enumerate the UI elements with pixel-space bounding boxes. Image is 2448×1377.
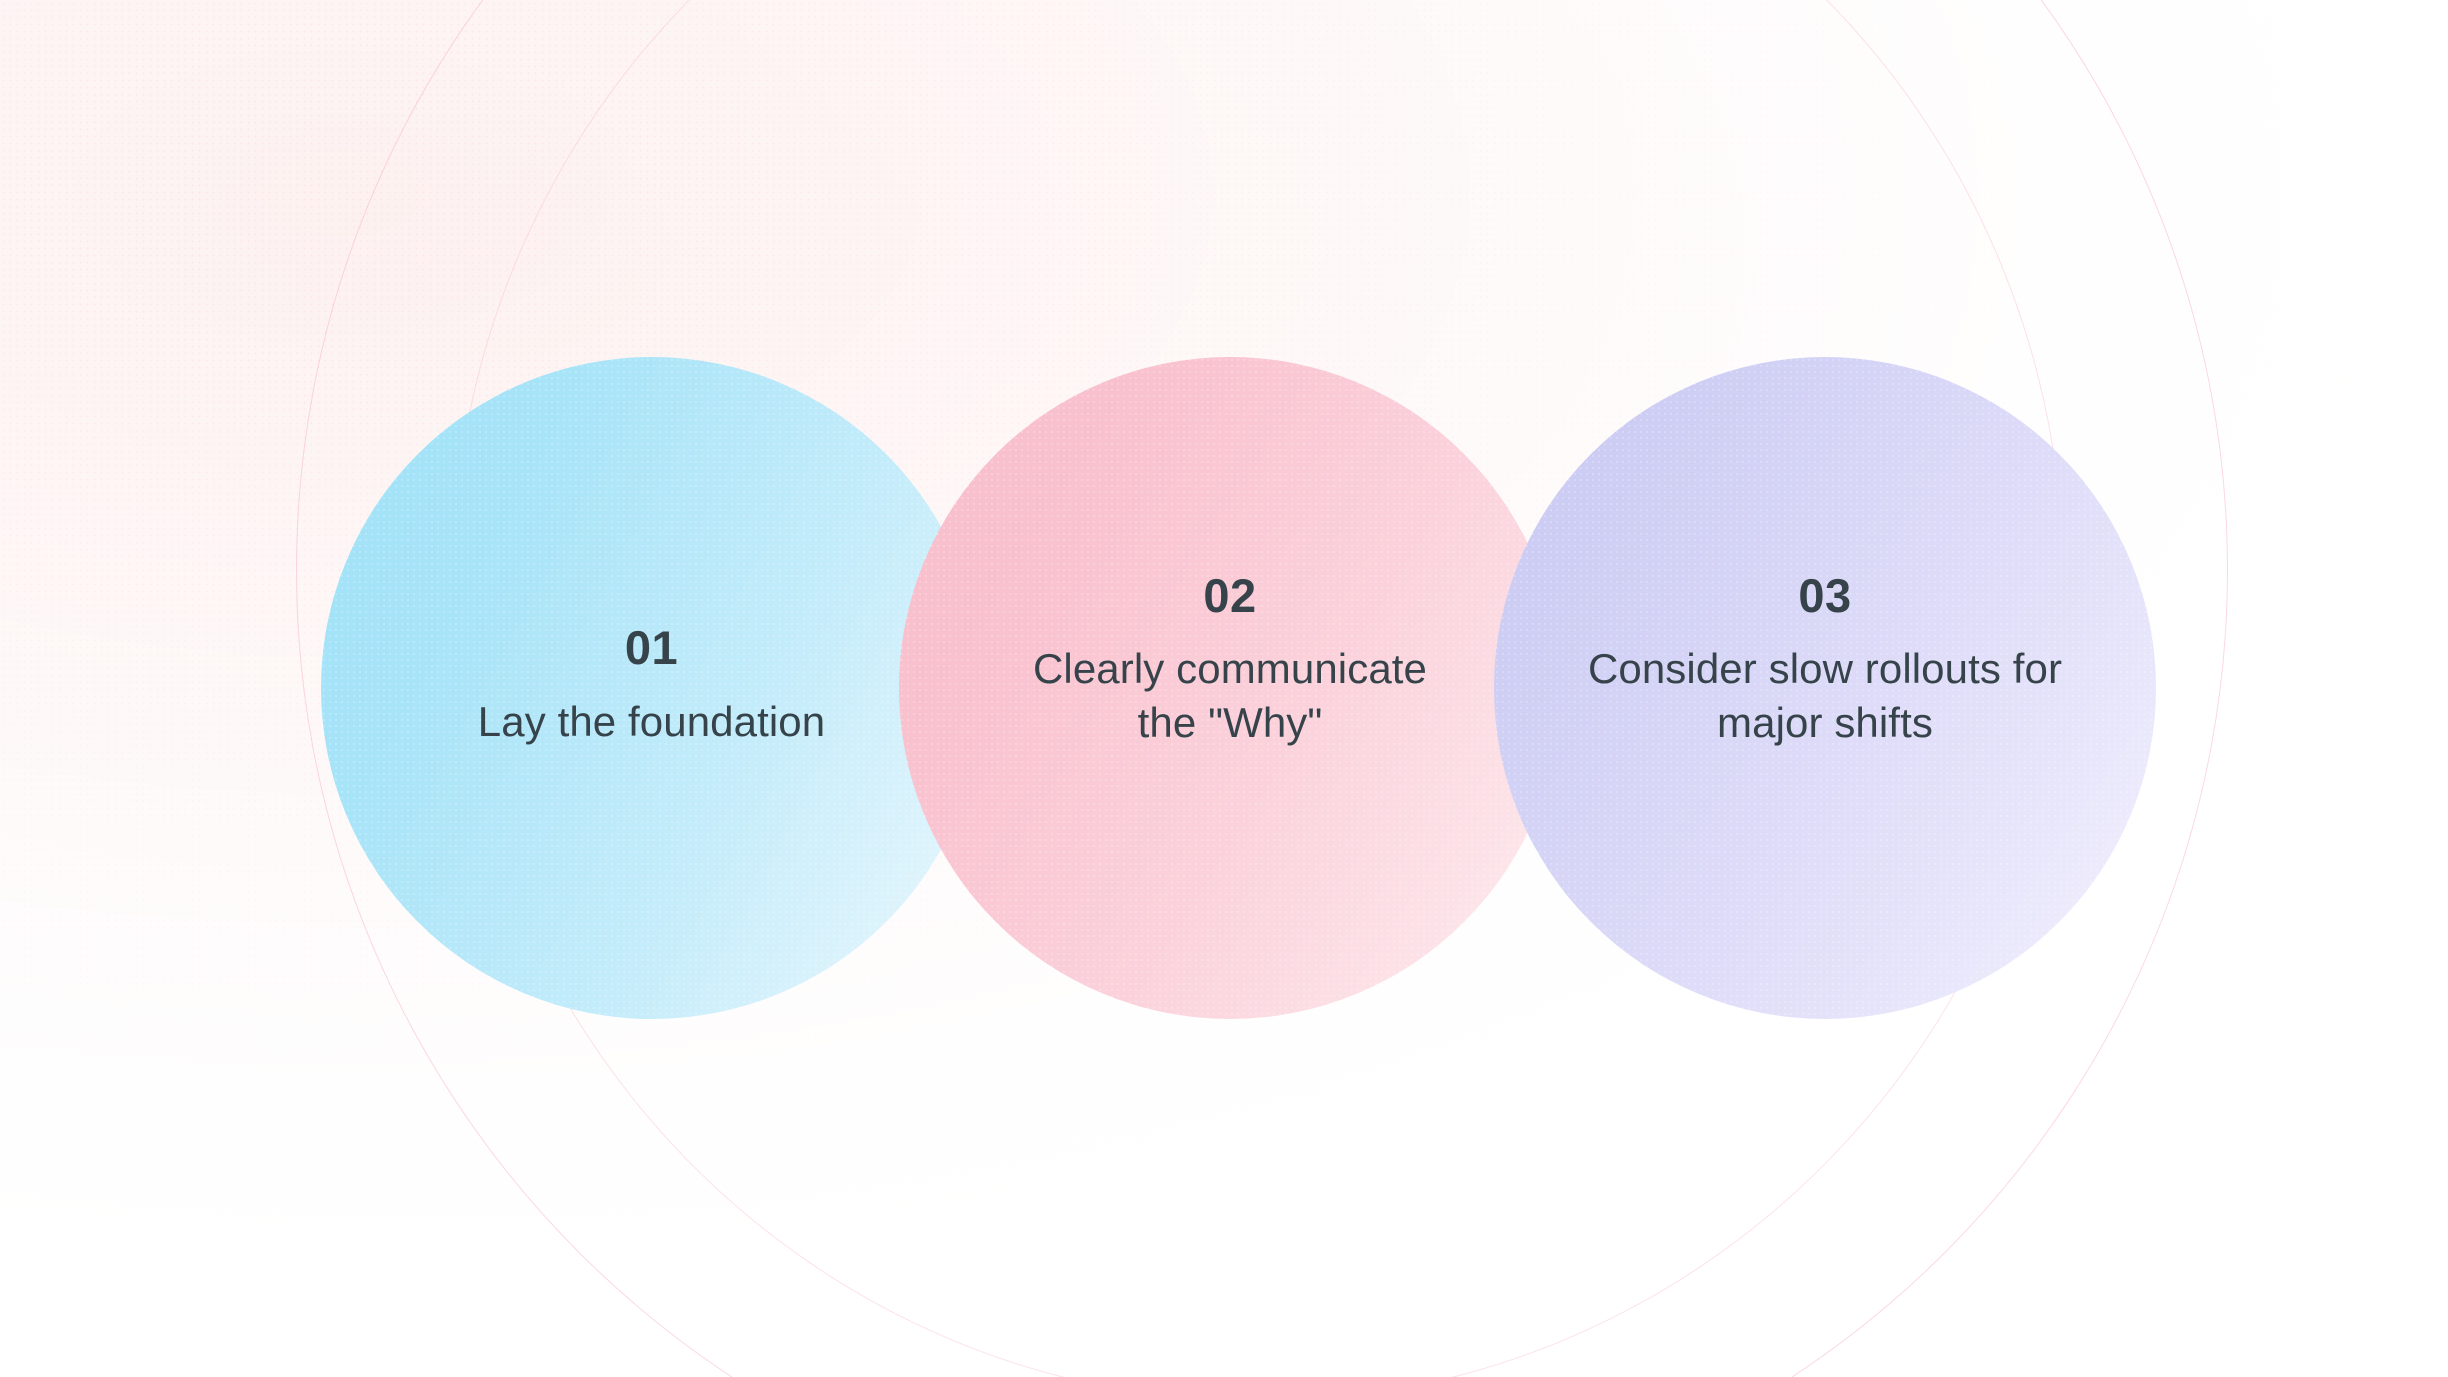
circle-number-1: 01	[625, 623, 678, 672]
slide-canvas: 01 Lay the foundation 02 Clearly communi…	[0, 0, 2448, 1377]
circle-label-2: Clearly communicate the "Why"	[1000, 642, 1460, 750]
circle-label-3: Consider slow rollouts for major shifts	[1580, 642, 2070, 750]
circle-number-3: 03	[1798, 571, 1851, 620]
circle-content-1: 01 Lay the foundation	[422, 623, 882, 748]
circle-content-3: 03 Consider slow rollouts for major shif…	[1580, 571, 2070, 750]
circle-step-2[interactable]: 02 Clearly communicate the "Why"	[899, 357, 1561, 1019]
circle-label-1: Lay the foundation	[478, 695, 825, 749]
circle-content-2: 02 Clearly communicate the "Why"	[1000, 571, 1460, 750]
circle-step-1[interactable]: 01 Lay the foundation	[321, 357, 983, 1019]
circle-number-2: 02	[1203, 571, 1256, 620]
circle-step-3[interactable]: 03 Consider slow rollouts for major shif…	[1494, 357, 2156, 1019]
